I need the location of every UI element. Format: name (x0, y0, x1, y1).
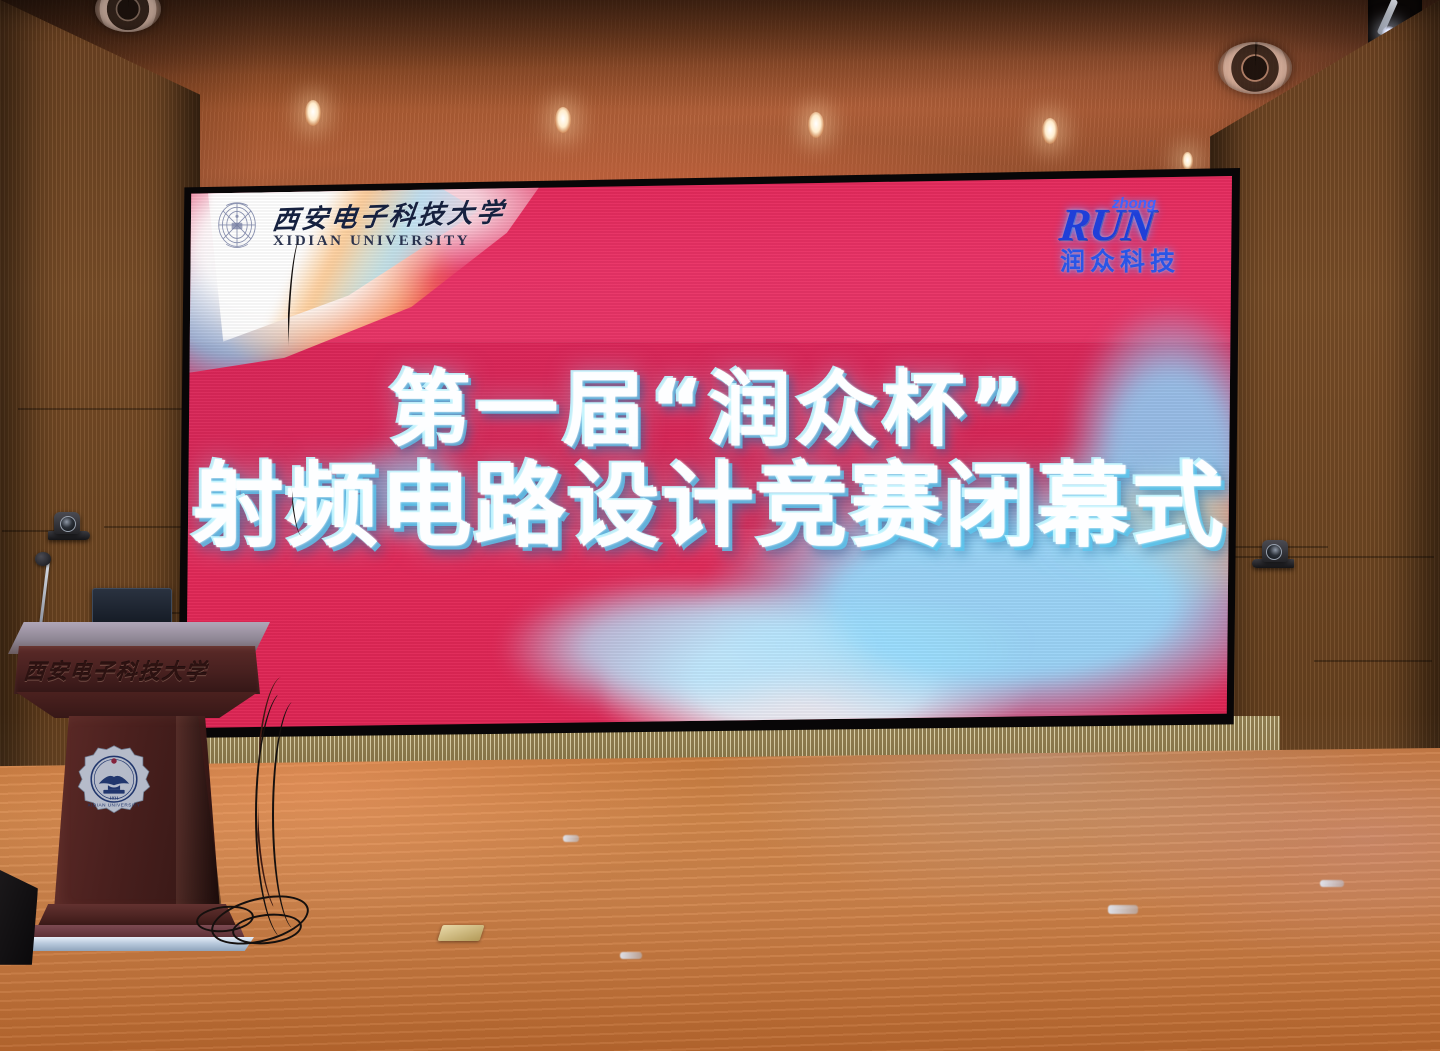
sponsor-superscript: zhong (1112, 196, 1156, 211)
wall-seam (18, 408, 188, 410)
wall-seam (1314, 660, 1432, 662)
ptz-camera-right (1252, 540, 1294, 570)
floor-debris (563, 835, 579, 842)
svg-text:1931: 1931 (109, 796, 119, 801)
ceiling-downlight-icon (305, 100, 321, 126)
camera-lens-icon (1266, 544, 1282, 560)
floor-debris (1320, 880, 1344, 887)
university-name-block: 西安电子科技大学 XIDIAN UNIVERSITY (273, 204, 505, 249)
headline-line-1: 第一届“润众杯” (186, 368, 1232, 455)
headline-line-2: 射频电路设计竞赛闭幕式 (186, 458, 1232, 556)
sponsor-name-cn: 润众科技 (1060, 250, 1180, 275)
university-name-cn: 西安电子科技大学 (271, 199, 507, 233)
ceiling-downlight-icon (1042, 118, 1058, 144)
brass-floor-outlet (437, 925, 484, 941)
podium-bevel (16, 692, 258, 718)
ceiling-downlight-icon (555, 107, 571, 133)
ceiling-downlight-icon (1182, 152, 1193, 170)
xidian-university-seal: 1931 XIDIAN UNIVERSITY (76, 744, 152, 822)
podium-laptop (92, 588, 172, 626)
floor-debris (1108, 905, 1138, 914)
svg-text:XIDIAN UNIVERSITY: XIDIAN UNIVERSITY (88, 803, 141, 808)
wall-seam (104, 526, 192, 528)
microphone-icon (35, 552, 51, 566)
university-logo-lockup: 西安电子科技大学 XIDIAN UNIVERSITY (210, 198, 505, 254)
led-screen: 西安电子科技大学 XIDIAN UNIVERSITY RUN zhong 润众科… (186, 176, 1232, 728)
ceiling-vent-icon (1218, 42, 1292, 94)
floor-debris (620, 952, 642, 959)
ceiling-downlight-icon (808, 112, 824, 138)
podium-engraved-text: 西安电子科技大学 (23, 656, 252, 686)
auditorium-scene: 西安电子科技大学 XIDIAN UNIVERSITY RUN zhong 润众科… (0, 0, 1440, 1051)
xidian-crest-icon (210, 198, 264, 254)
sponsor-logo-lockup: RUN zhong 润众科技 (1060, 202, 1180, 275)
university-name-en: XIDIAN UNIVERSITY (273, 234, 505, 249)
camera-lens-icon (60, 516, 76, 532)
podium-column-edge (176, 716, 222, 910)
ptz-camera-left (48, 512, 90, 542)
